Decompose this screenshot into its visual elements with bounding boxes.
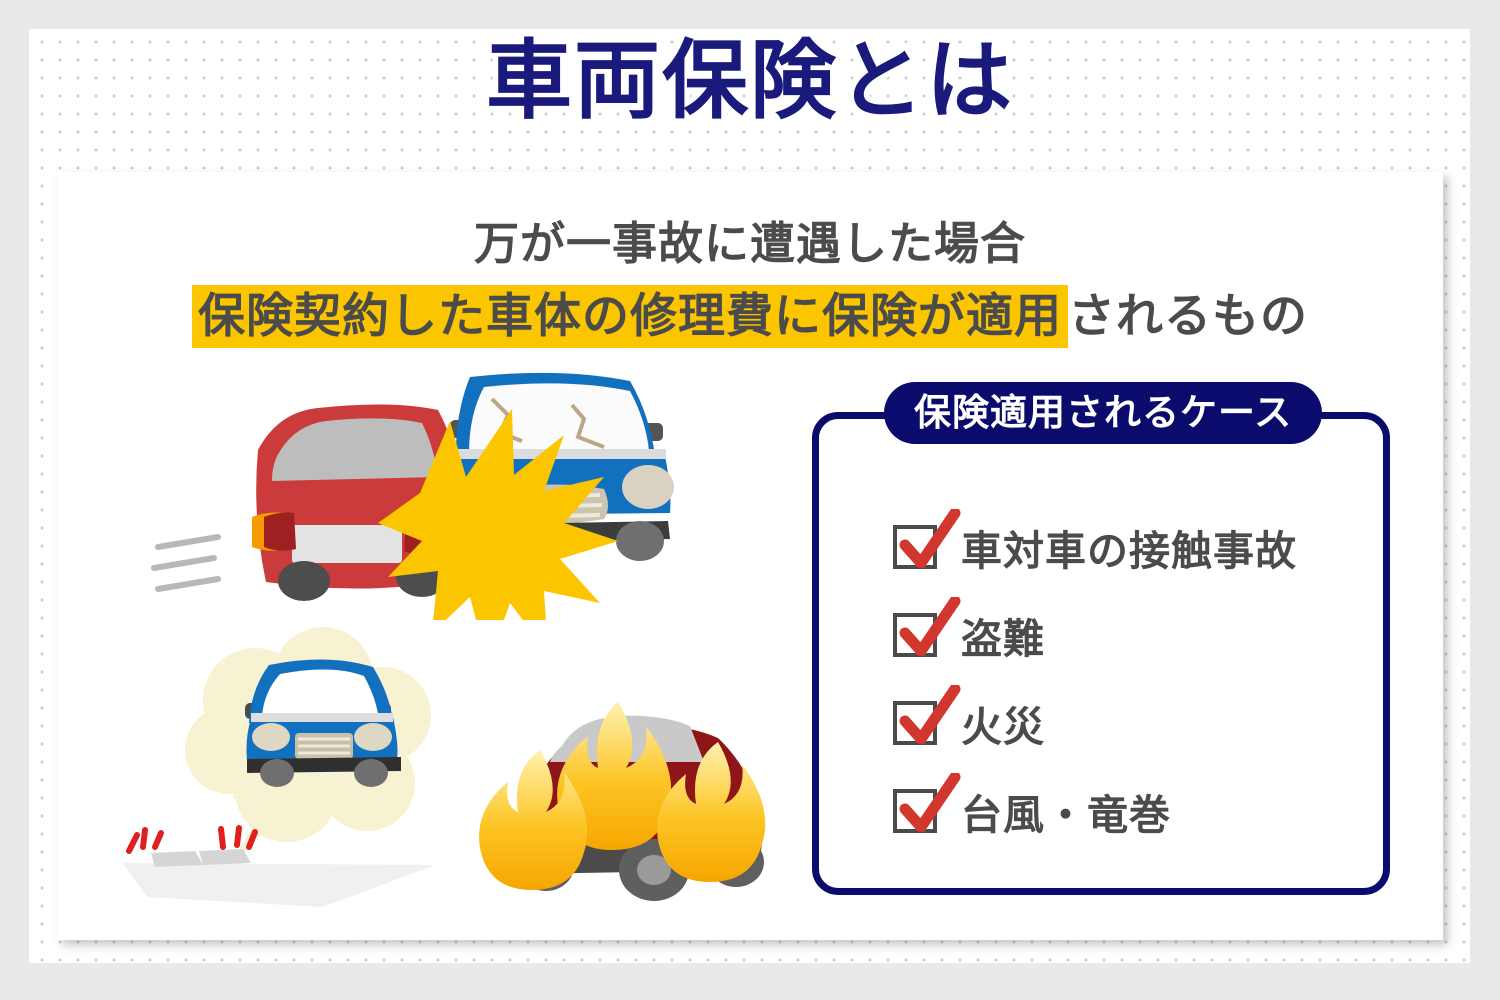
subtitle-tail: されるもの bbox=[1068, 289, 1308, 342]
checkbox-checked[interactable] bbox=[893, 613, 937, 657]
subtitle-highlight: 保険契約した車体の修理費に保険が適用 bbox=[192, 285, 1068, 348]
list-item-label: 火災 bbox=[961, 693, 1045, 753]
list-item-label: 台風・竜巻 bbox=[961, 781, 1171, 841]
list-item[interactable]: 火災 bbox=[893, 692, 1373, 754]
checkbox-checked[interactable] bbox=[893, 525, 937, 569]
check-icon bbox=[895, 597, 961, 663]
subtitle-line-1: 万が一事故に遭遇した場合 bbox=[0, 207, 1500, 272]
list-item[interactable]: 盗難 bbox=[893, 604, 1373, 666]
list-item[interactable]: 車対車の接触事故 bbox=[893, 516, 1373, 578]
page-title-wrap: 車両保険とは 車両保険とは bbox=[0, 38, 1500, 124]
page-title: 車両保険とは 車両保険とは bbox=[486, 38, 1014, 124]
check-icon bbox=[895, 685, 961, 751]
covered-cases-list: 車対車の接触事故 盗難 火災 台風・竜巻 bbox=[893, 516, 1373, 868]
checkbox-checked[interactable] bbox=[893, 701, 937, 745]
check-icon bbox=[895, 509, 961, 575]
list-item-label: 盗難 bbox=[961, 605, 1045, 665]
infographic-root: 車両保険とは 車両保険とは 万が一事故に遭遇した場合 保険契約した車体の修理費に… bbox=[0, 0, 1500, 1000]
check-icon bbox=[895, 773, 961, 839]
list-item-label: 車対車の接触事故 bbox=[961, 517, 1297, 577]
page-title-text: 車両保険とは bbox=[486, 33, 1014, 129]
checkbox-checked[interactable] bbox=[893, 789, 937, 833]
subtitle-line-2: 保険契約した車体の修理費に保険が適用されるもの bbox=[0, 277, 1500, 346]
list-item[interactable]: 台風・竜巻 bbox=[893, 780, 1373, 842]
covered-cases-badge: 保険適用されるケース bbox=[884, 382, 1322, 444]
